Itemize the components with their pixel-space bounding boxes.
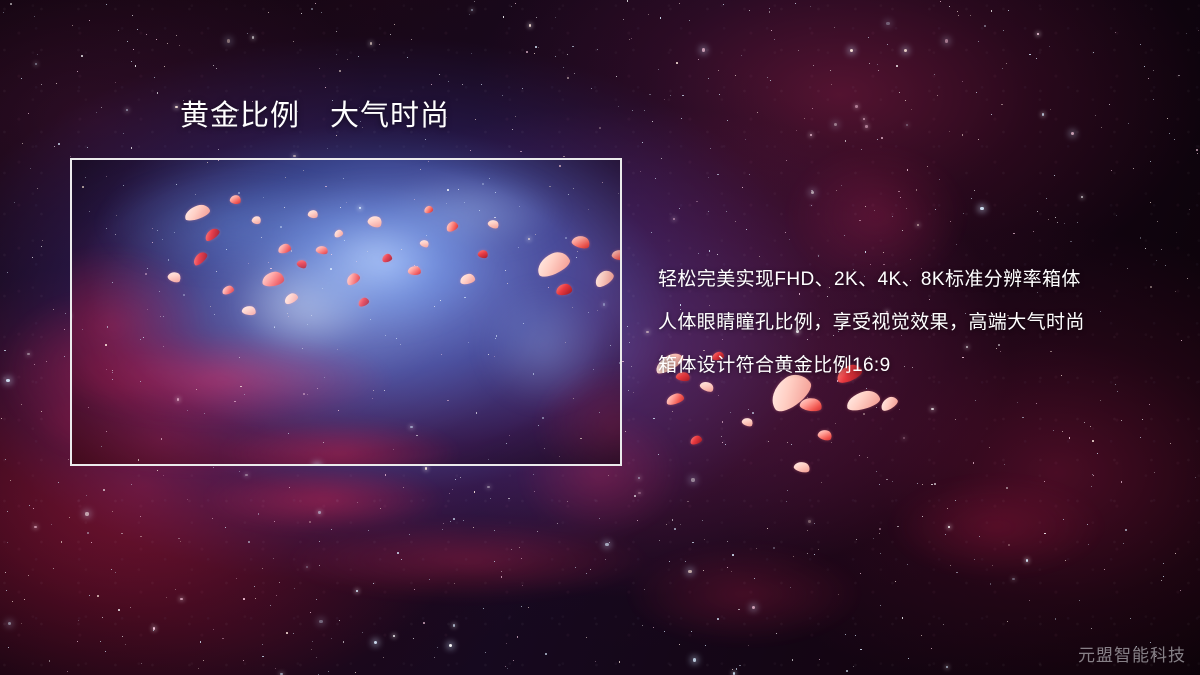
body-line-3: 箱体设计符合黄金比例16:9 (658, 344, 1158, 387)
slide-body-text: 轻松完美实现FHD、2K、4K、8K标准分辨率箱体 人体眼睛瞳孔比例，享受视觉效… (658, 258, 1158, 387)
body-line-2: 人体眼睛瞳孔比例，享受视觉效果，高端大气时尚 (658, 301, 1158, 344)
display-panel-16x9[interactable] (70, 158, 622, 466)
watermark-label: 元盟智能科技 (1078, 641, 1186, 666)
body-line-1: 轻松完美实现FHD、2K、4K、8K标准分辨率箱体 (658, 258, 1158, 301)
display-panel-content (72, 160, 620, 464)
presentation-slide: 黄金比例 大气时尚 轻松完美实现FHD、2K、4K、8K标准分辨率箱体 人体眼睛… (0, 0, 1200, 675)
panel-vignette (72, 160, 620, 464)
slide-title: 黄金比例 大气时尚 (180, 101, 450, 133)
